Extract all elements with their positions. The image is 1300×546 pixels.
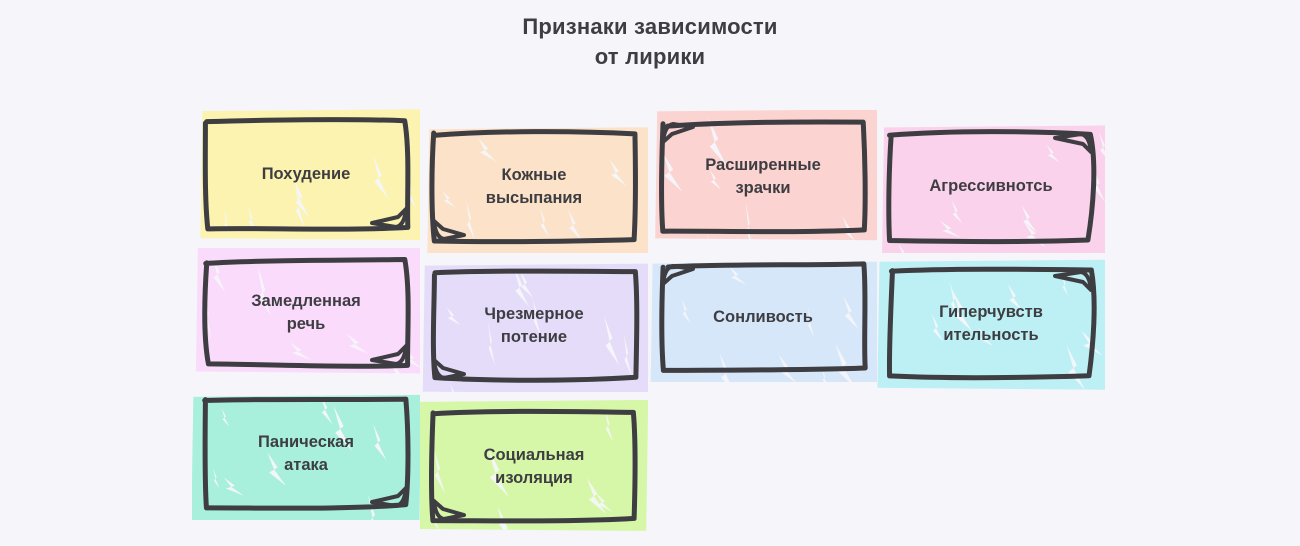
card-fill [418,400,648,546]
symptom-card-гиперчувств-ительность[interactable]: Гиперчувств ительность [887,268,1095,380]
symptom-card-похудение[interactable]: Похудение [202,118,410,231]
card-fill [191,394,421,540]
symptom-card-замедленная-речь[interactable]: Замедленная речь [202,258,410,368]
card-fill [655,109,885,276]
symptom-card-расширенные-зрачки[interactable]: Расширенные зрачки [659,120,867,233]
card-fill [651,262,881,394]
card-fill [200,109,430,240]
symptom-card-кожные-высыпания[interactable]: Кожные высыпания [430,130,638,243]
symptom-card-агрессивнотсь[interactable]: Агрессивнотсь [887,130,1095,243]
symptom-card-чрезмерное-потение[interactable]: Чрезмерное потение [430,270,638,382]
card-fill [196,246,426,393]
symptom-card-социальная-изоляция[interactable]: Социальная изоляция [430,410,638,523]
sticky-note-board: Признаки зависимости от лирики Похудение… [0,0,1300,546]
symptom-card-сонливость[interactable]: Сонливость [659,262,867,372]
symptom-card-паническая-атака[interactable]: Паническая атака [202,397,410,510]
page-title: Признаки зависимости от лирики [0,12,1300,72]
